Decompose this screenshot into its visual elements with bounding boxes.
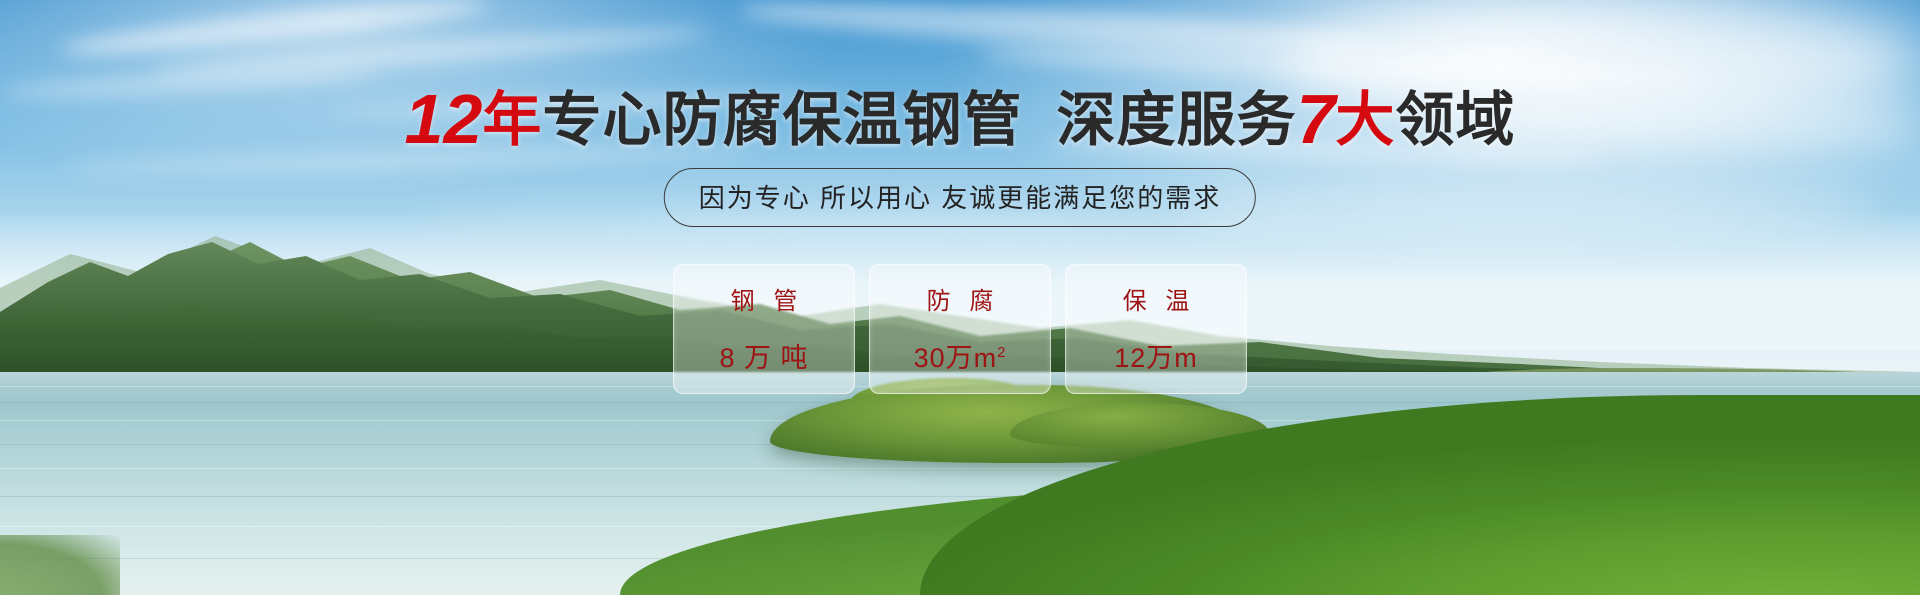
headline-seven-unit: 大 <box>1335 87 1395 153</box>
headline-years-unit: 年 <box>482 87 542 153</box>
hero-banner: 12年专心防腐保温钢管深度服务7大领域 因为专心 所以用心 友诚更能满足您的需求… <box>0 0 1920 595</box>
headline-seven-number: 7 <box>1296 80 1335 158</box>
stat-card-title: 保 温 <box>1076 281 1236 316</box>
headline-service: 深度服务 <box>1056 87 1296 153</box>
banner-subtitle-pill: 因为专心 所以用心 友诚更能满足您的需求 <box>664 168 1256 227</box>
stat-card-group: 钢 管 8 万 吨 防 腐 30万m2 保 温 12万m <box>673 264 1247 394</box>
headline-main: 专心防腐保温钢管 <box>542 87 1022 153</box>
stat-card-title: 钢 管 <box>684 281 844 316</box>
grass-foreground-left <box>0 535 120 595</box>
headline-years-number: 12 <box>405 80 483 158</box>
stat-card-anticorrosion[interactable]: 防 腐 30万m2 <box>869 264 1051 394</box>
stat-card-insulation[interactable]: 保 温 12万m <box>1065 264 1247 394</box>
stat-card-value: 8 万 吨 <box>684 336 844 375</box>
headline-fields: 领域 <box>1395 87 1515 153</box>
banner-headline: 12年专心防腐保温钢管深度服务7大领域 <box>0 84 1920 154</box>
stat-card-steel-pipe[interactable]: 钢 管 8 万 吨 <box>673 264 855 394</box>
stat-card-value: 30万m2 <box>880 336 1040 375</box>
stat-card-value: 12万m <box>1076 336 1236 375</box>
stat-card-title: 防 腐 <box>880 281 1040 316</box>
stat-card-unit-exponent: 2 <box>997 344 1006 361</box>
